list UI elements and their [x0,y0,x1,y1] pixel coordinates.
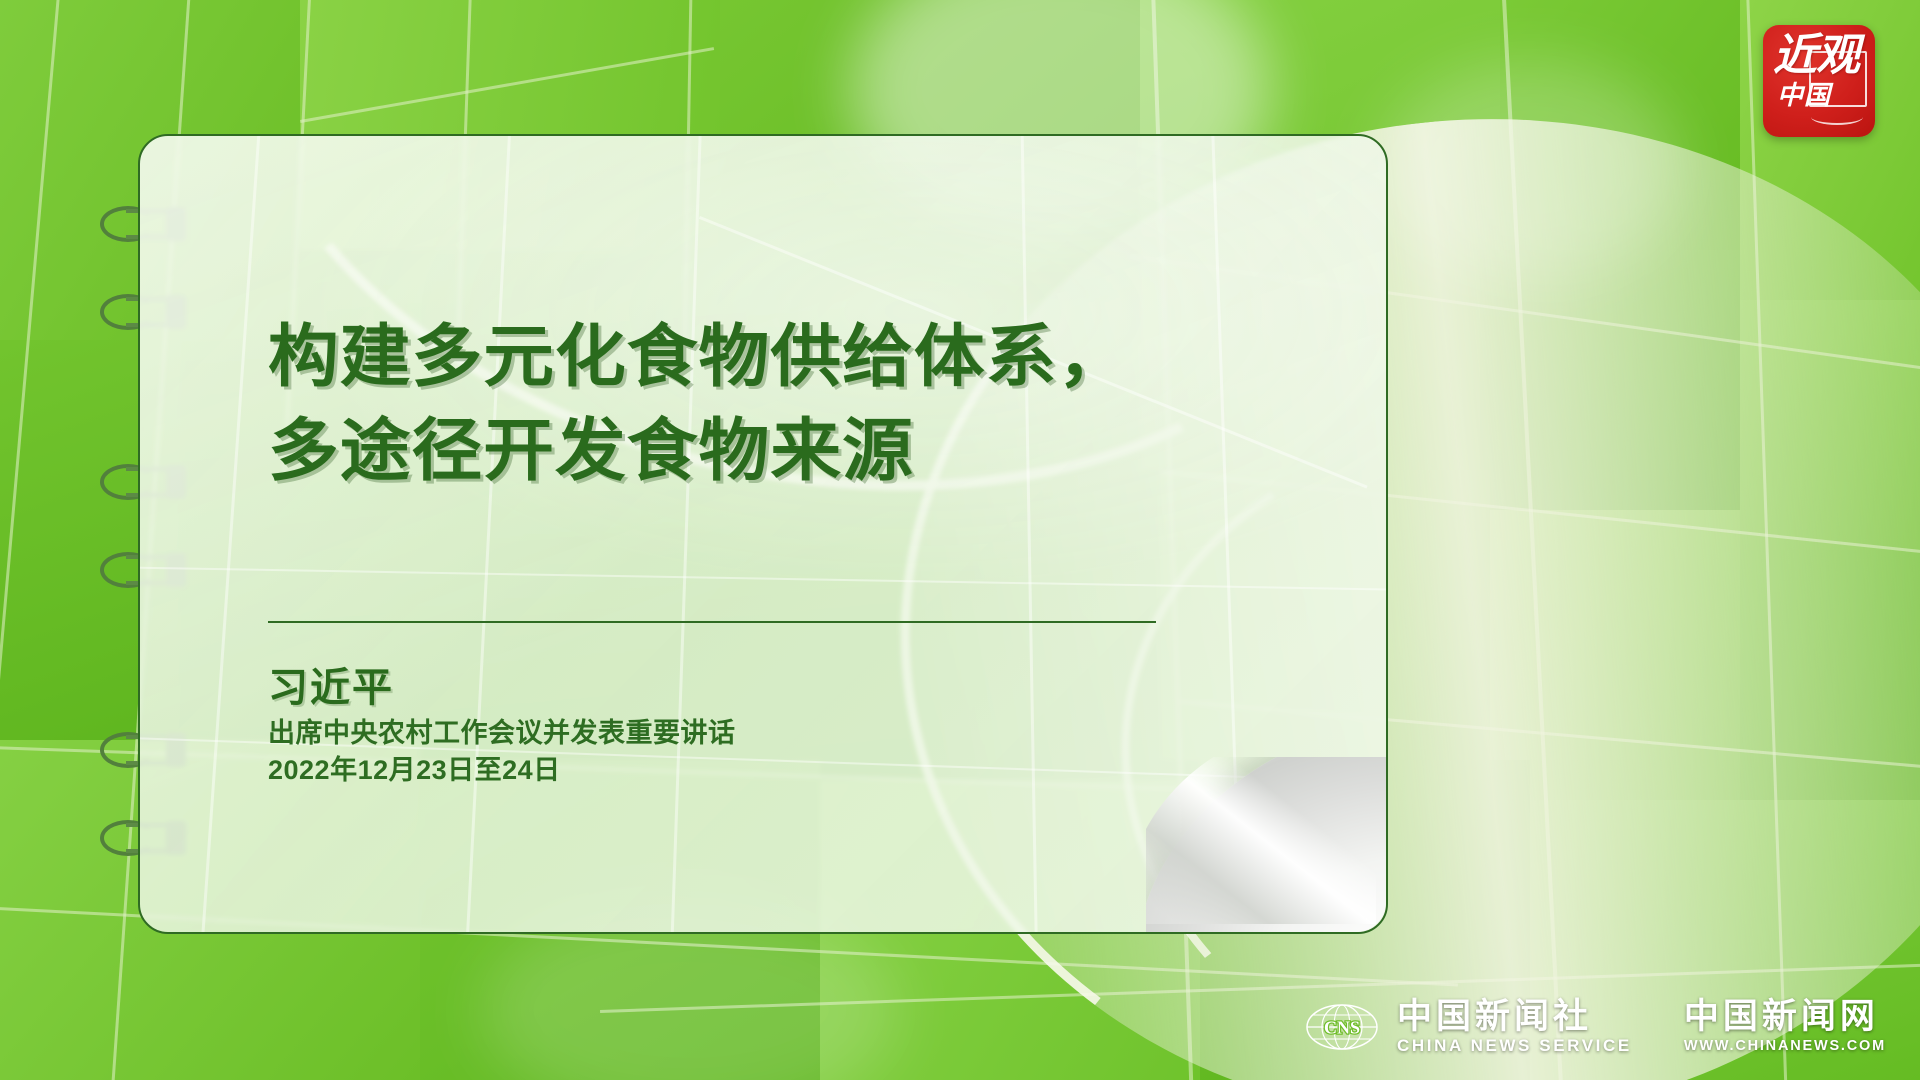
logo-swoosh-icon [1811,109,1863,125]
cns-agency-en: CHINA NEWS SERVICE [1397,1036,1632,1056]
divider-rule [268,621,1156,623]
logo-bottom-text: 中国 [1777,81,1831,109]
speaker-name: 习近平 [268,661,1168,715]
occasion-text: 出席中央农村工作会议并发表重要讲话 [268,715,1168,752]
logo-top-text: 近观 [1773,33,1859,79]
cns-site-url: WWW.CHINANEWS.COM [1684,1036,1886,1056]
cns-site-cn: 中国新闻网 [1684,998,1886,1036]
light-haze [1380,60,1680,280]
page-curl [1146,757,1386,932]
cns-branding: CNS 中国新闻社 CHINA NEWS SERVICE 中国新闻网 WWW.C… [1305,998,1886,1056]
jinguan-zhongguo-logo[interactable]: 近观 中国 [1763,25,1875,137]
cns-site-group: 中国新闻网 WWW.CHINANEWS.COM [1684,998,1886,1056]
headline-quote: 构建多元化食物供给体系， 多途径开发食物来源 [268,310,1329,498]
quote-card: 构建多元化食物供给体系， 多途径开发食物来源 习近平 出席中央农村工作会议并发表… [138,134,1388,934]
cns-agency-group: 中国新闻社 CHINA NEWS SERVICE [1397,998,1632,1056]
date-text: 2022年12月23日至24日 [268,752,1168,789]
svg-text:CNS: CNS [1324,1018,1360,1038]
cns-globe-icon: CNS [1305,1002,1379,1052]
cns-agency-cn: 中国新闻社 [1397,998,1632,1036]
card-showthrough-line [197,134,263,934]
page-curl-fold [1146,757,1376,924]
attribution-block: 习近平 出席中央农村工作会议并发表重要讲话 2022年12月23日至24日 [268,661,1168,789]
